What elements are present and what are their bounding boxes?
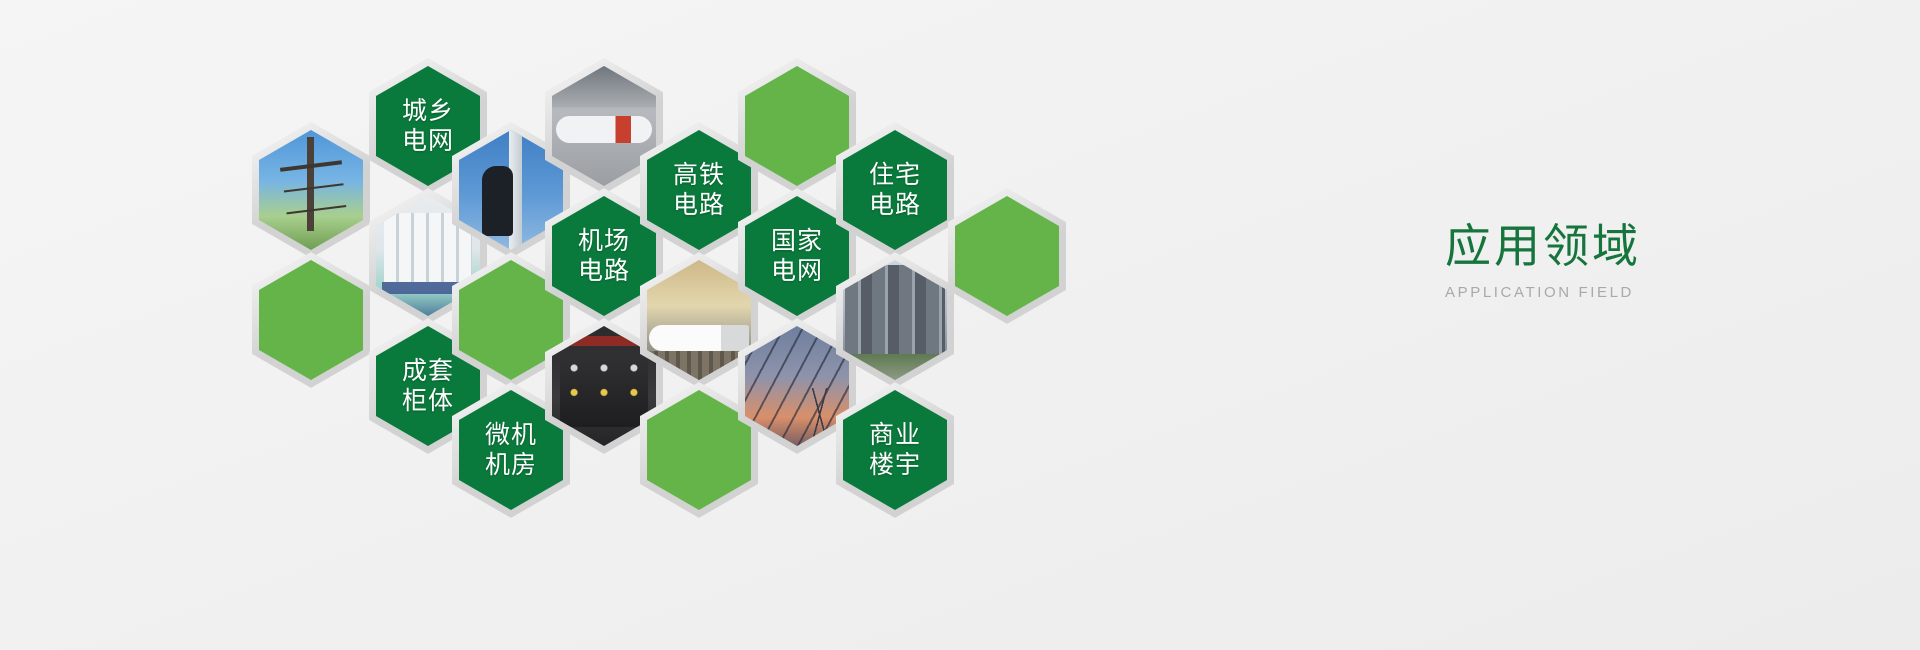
page-title: 应用领域	[1445, 218, 1865, 274]
hex-label: 微机 机房	[485, 420, 537, 480]
hex-label: 商业 楼宇	[869, 420, 921, 480]
title-block: 应用领域 APPLICATION FIELD	[1445, 218, 1865, 301]
application-field-banner: 城乡 电网成套 柜体微机 机房机场 电路高铁 电路国家 电网住宅 电路商业 楼宇…	[0, 0, 1920, 650]
hex-cell-photo-power-pole[interactable]	[252, 122, 370, 258]
hex-label: 国家 电网	[771, 226, 823, 286]
hex-label: 住宅 电路	[869, 160, 921, 220]
hex-label: 机场 电路	[578, 226, 630, 286]
hex-label: 高铁 电路	[673, 160, 725, 220]
page-subtitle: APPLICATION FIELD	[1445, 284, 1865, 301]
hex-cell-light-blank-1[interactable]	[252, 252, 370, 388]
hex-label: 城乡 电网	[402, 96, 454, 156]
hex-cell-light-blank-5[interactable]	[948, 188, 1066, 324]
hex-label: 成套 柜体	[402, 356, 454, 416]
hexagon-grid: 城乡 电网成套 柜体微机 机房机场 电路高铁 电路国家 电网住宅 电路商业 楼宇	[0, 0, 1200, 650]
